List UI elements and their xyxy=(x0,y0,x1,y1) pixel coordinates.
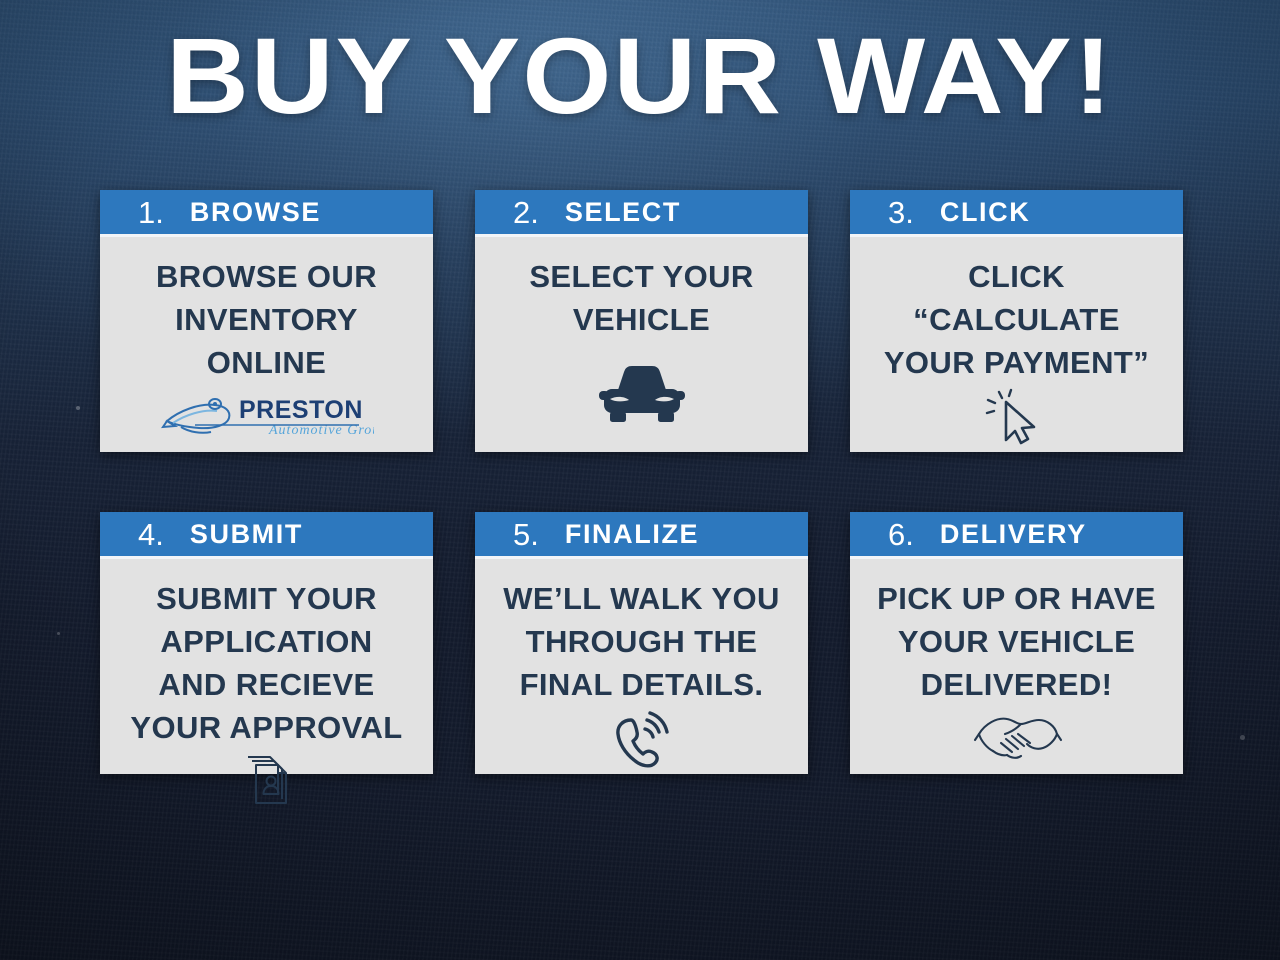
step-header: 6. DELIVERY xyxy=(850,512,1183,559)
step-number: 2. xyxy=(513,197,539,228)
step-header: 2. SELECT xyxy=(475,190,808,237)
step-number: 3. xyxy=(888,197,914,228)
frog-mark xyxy=(163,399,229,433)
texture-speck xyxy=(57,632,60,635)
step-text: SUBMIT YOUR APPLICATION AND RECIEVE YOUR… xyxy=(130,577,402,749)
step-card-browse[interactable]: 1. BROWSE BROWSE OUR INVENTORY ONLINE xyxy=(100,190,433,452)
step-body: WE’LL WALK YOU THROUGH THE FINAL DETAILS… xyxy=(475,559,808,782)
step-text: PICK UP OR HAVE YOUR VEHICLE DELIVERED! xyxy=(877,577,1156,706)
step-body: CLICK “CALCULATE YOUR PAYMENT” xyxy=(850,237,1183,456)
step-body: SELECT YOUR VEHICLE xyxy=(475,237,808,452)
step-label: CLICK xyxy=(940,199,1031,226)
step-text: CLICK “CALCULATE YOUR PAYMENT” xyxy=(884,255,1149,384)
step-header: 3. CLICK xyxy=(850,190,1183,237)
step-body: SUBMIT YOUR APPLICATION AND RECIEVE YOUR… xyxy=(100,559,433,819)
steps-grid: 1. BROWSE BROWSE OUR INVENTORY ONLINE xyxy=(100,190,1185,774)
step-text: BROWSE OUR INVENTORY ONLINE xyxy=(156,255,377,384)
step-header: 4. SUBMIT xyxy=(100,512,433,559)
step-card-delivery[interactable]: 6. DELIVERY PICK UP OR HAVE YOUR VEHICLE… xyxy=(850,512,1183,774)
preston-automotive-group-logo: PRESTON Automotive Group xyxy=(159,391,374,439)
step-number: 1. xyxy=(138,197,164,228)
step-label: SUBMIT xyxy=(190,521,303,548)
step-text: WE’LL WALK YOU THROUGH THE FINAL DETAILS… xyxy=(503,577,780,706)
step-card-submit[interactable]: 4. SUBMIT SUBMIT YOUR APPLICATION AND RE… xyxy=(100,512,433,774)
step-body: BROWSE OUR INVENTORY ONLINE PR xyxy=(100,237,433,452)
icon-slot xyxy=(864,384,1169,446)
step-number: 4. xyxy=(138,519,164,550)
texture-speck xyxy=(1240,735,1245,740)
application-document-person-icon xyxy=(238,753,296,809)
step-card-finalize[interactable]: 5. FINALIZE WE’LL WALK YOU THROUGH THE F… xyxy=(475,512,808,774)
step-label: BROWSE xyxy=(190,199,321,226)
step-header: 5. FINALIZE xyxy=(475,512,808,559)
preston-logo: PRESTON Automotive Group xyxy=(114,384,419,442)
step-header: 1. BROWSE xyxy=(100,190,433,237)
step-number: 5. xyxy=(513,519,539,550)
step-body: PICK UP OR HAVE YOUR VEHICLE DELIVERED! xyxy=(850,559,1183,776)
phone-ringing-icon xyxy=(609,710,675,772)
mouse-cursor-click-icon xyxy=(984,388,1050,446)
step-card-click[interactable]: 3. CLICK CLICK “CALCULATE YOUR PAYMENT” xyxy=(850,190,1183,452)
step-label: FINALIZE xyxy=(565,521,699,548)
step-card-select[interactable]: 2. SELECT SELECT YOUR VEHICLE xyxy=(475,190,808,452)
step-label: SELECT xyxy=(565,199,681,226)
step-label: DELIVERY xyxy=(940,521,1087,548)
page-title: BUY YOUR WAY! xyxy=(0,22,1280,130)
step-number: 6. xyxy=(888,519,914,550)
icon-slot xyxy=(864,706,1169,766)
icon-slot xyxy=(489,341,794,442)
car-front-icon xyxy=(596,360,688,428)
promo-poster: BUY YOUR WAY! 1. BROWSE BROWSE OUR INVEN… xyxy=(0,0,1280,960)
preston-wordmark: PRESTON xyxy=(239,396,363,424)
texture-speck xyxy=(76,406,80,410)
step-text: SELECT YOUR VEHICLE xyxy=(529,255,753,341)
handshake-icon xyxy=(971,710,1063,766)
icon-slot xyxy=(489,706,794,772)
icon-slot xyxy=(114,749,419,809)
